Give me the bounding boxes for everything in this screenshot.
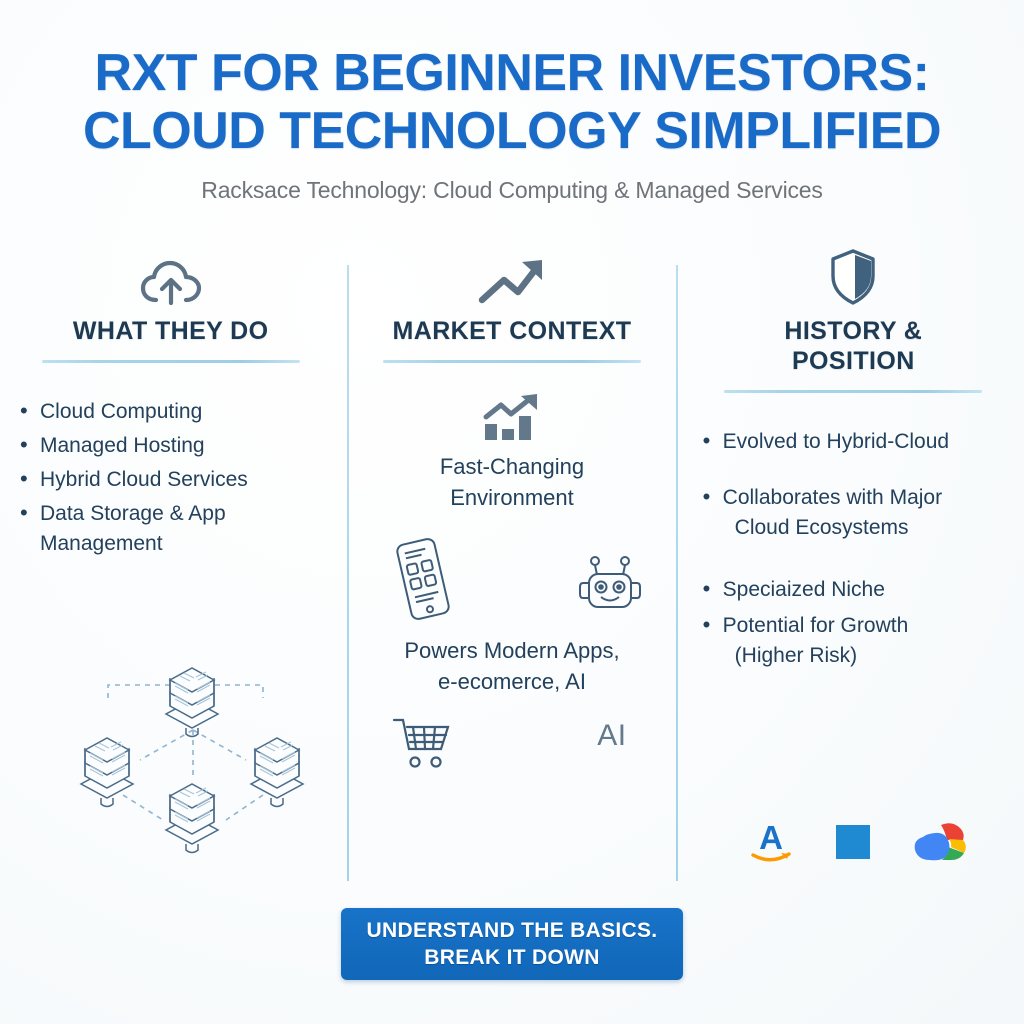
- page-title-line-1: RXT FOR BEGINNER INVESTORS:: [0, 44, 1024, 102]
- column-underline-3: [724, 390, 982, 393]
- page-title-line-2: CLOUD TECHNOLOGY SIMPLIFIED: [0, 102, 1024, 160]
- column-market-context: MARKET CONTEXT Fast-Changing Environment: [341, 248, 682, 888]
- market-caption-1-line-1: Fast-Changing: [359, 451, 664, 482]
- ai-text-label: AI: [597, 719, 626, 753]
- server-network-diagram: [48, 630, 338, 880]
- shield-icon: [701, 248, 1006, 306]
- google-cloud-logo: [911, 819, 969, 865]
- column-underline-1: [42, 360, 300, 363]
- market-icon-pair-2: AI: [359, 713, 664, 783]
- list-item: Managed Hosting: [18, 431, 323, 461]
- market-caption-2-line-1: Powers Modern Apps,: [359, 635, 664, 666]
- cloud-upload-icon: [18, 248, 323, 306]
- list-item-line-1: Managed Hosting: [40, 431, 323, 461]
- list-item-line-2: (Higher Risk): [723, 641, 1006, 671]
- cloud-provider-logos: A: [683, 818, 1024, 866]
- columns-container: WHAT THEY DO Cloud Computing Managed Hos…: [0, 248, 1024, 888]
- azure-logo: [833, 822, 873, 862]
- market-icon-pair-1: [359, 535, 664, 627]
- cta-label-line-1: UNDERSTAND THE BASICS.: [367, 917, 658, 944]
- list-item: Data Storage & App Management: [18, 499, 323, 559]
- column-history-position: HISTORY & POSITION Evolved to Hybrid-Clo…: [683, 248, 1024, 888]
- cta-button[interactable]: UNDERSTAND THE BASICS. BREAK IT DOWN: [341, 908, 683, 980]
- column-title-line-1: HISTORY &: [701, 316, 1006, 346]
- aws-logo: A: [747, 818, 795, 866]
- cta-label-line-2: BREAK IT DOWN: [424, 944, 599, 971]
- column-title-what-they-do: WHAT THEY DO: [18, 316, 323, 346]
- market-caption-2-line-2: e-ecomerce, AI: [359, 666, 664, 697]
- column-title-line-2: POSITION: [701, 346, 1006, 376]
- list-item: Potential for Growth (Higher Risk): [701, 611, 1006, 671]
- market-block-2: Powers Modern Apps, e-ecomerce, AI: [359, 635, 664, 697]
- list-item-line-1: Collaborates with Major: [723, 483, 1006, 513]
- svg-text:A: A: [759, 819, 783, 856]
- column-title-history-position: HISTORY & POSITION: [701, 316, 1006, 376]
- list-item-line-1: Cloud Computing: [40, 397, 323, 427]
- column-what-they-do: WHAT THEY DO Cloud Computing Managed Hos…: [0, 248, 341, 888]
- list-item: Collaborates with Major Cloud Ecosystems: [701, 483, 1006, 543]
- list-item: Evolved to Hybrid-Cloud: [701, 427, 1006, 457]
- market-caption-1-line-2: Environment: [359, 482, 664, 513]
- list-item: Cloud Computing: [18, 397, 323, 427]
- list-item-line-1: Potential for Growth: [723, 611, 1006, 641]
- header: RXT FOR BEGINNER INVESTORS: CLOUD TECHNO…: [0, 44, 1024, 204]
- what-they-do-list: Cloud Computing Managed Hosting Hybrid C…: [18, 397, 323, 559]
- list-item: Speciaized Niche: [701, 575, 1006, 605]
- bar-chart-growth-icon: [359, 393, 664, 443]
- list-item-line-1: Speciaized Niche: [723, 575, 1006, 605]
- robot-icon: [577, 553, 643, 620]
- column-title-market-context: MARKET CONTEXT: [359, 316, 664, 346]
- list-item-line-2: Cloud Ecosystems: [723, 513, 1006, 543]
- smartphone-icon: [387, 535, 459, 628]
- list-item-line-1: Evolved to Hybrid-Cloud: [723, 427, 1006, 457]
- shopping-cart-icon: [391, 715, 457, 776]
- page-subtitle: Racksace Technology: Cloud Computing & M…: [0, 176, 1024, 204]
- list-item: Hybrid Cloud Services: [18, 465, 323, 495]
- trending-up-arrow-icon: [359, 248, 664, 306]
- history-position-list: Evolved to Hybrid-Cloud Collaborates wit…: [701, 427, 1006, 671]
- list-item-line-2: Management: [40, 529, 323, 559]
- list-item-line-1: Hybrid Cloud Services: [40, 465, 323, 495]
- market-block-1: Fast-Changing Environment: [359, 393, 664, 513]
- infographic-canvas: RXT FOR BEGINNER INVESTORS: CLOUD TECHNO…: [0, 0, 1024, 1024]
- list-item-line-1: Data Storage & App: [40, 499, 323, 529]
- column-underline-2: [383, 360, 641, 363]
